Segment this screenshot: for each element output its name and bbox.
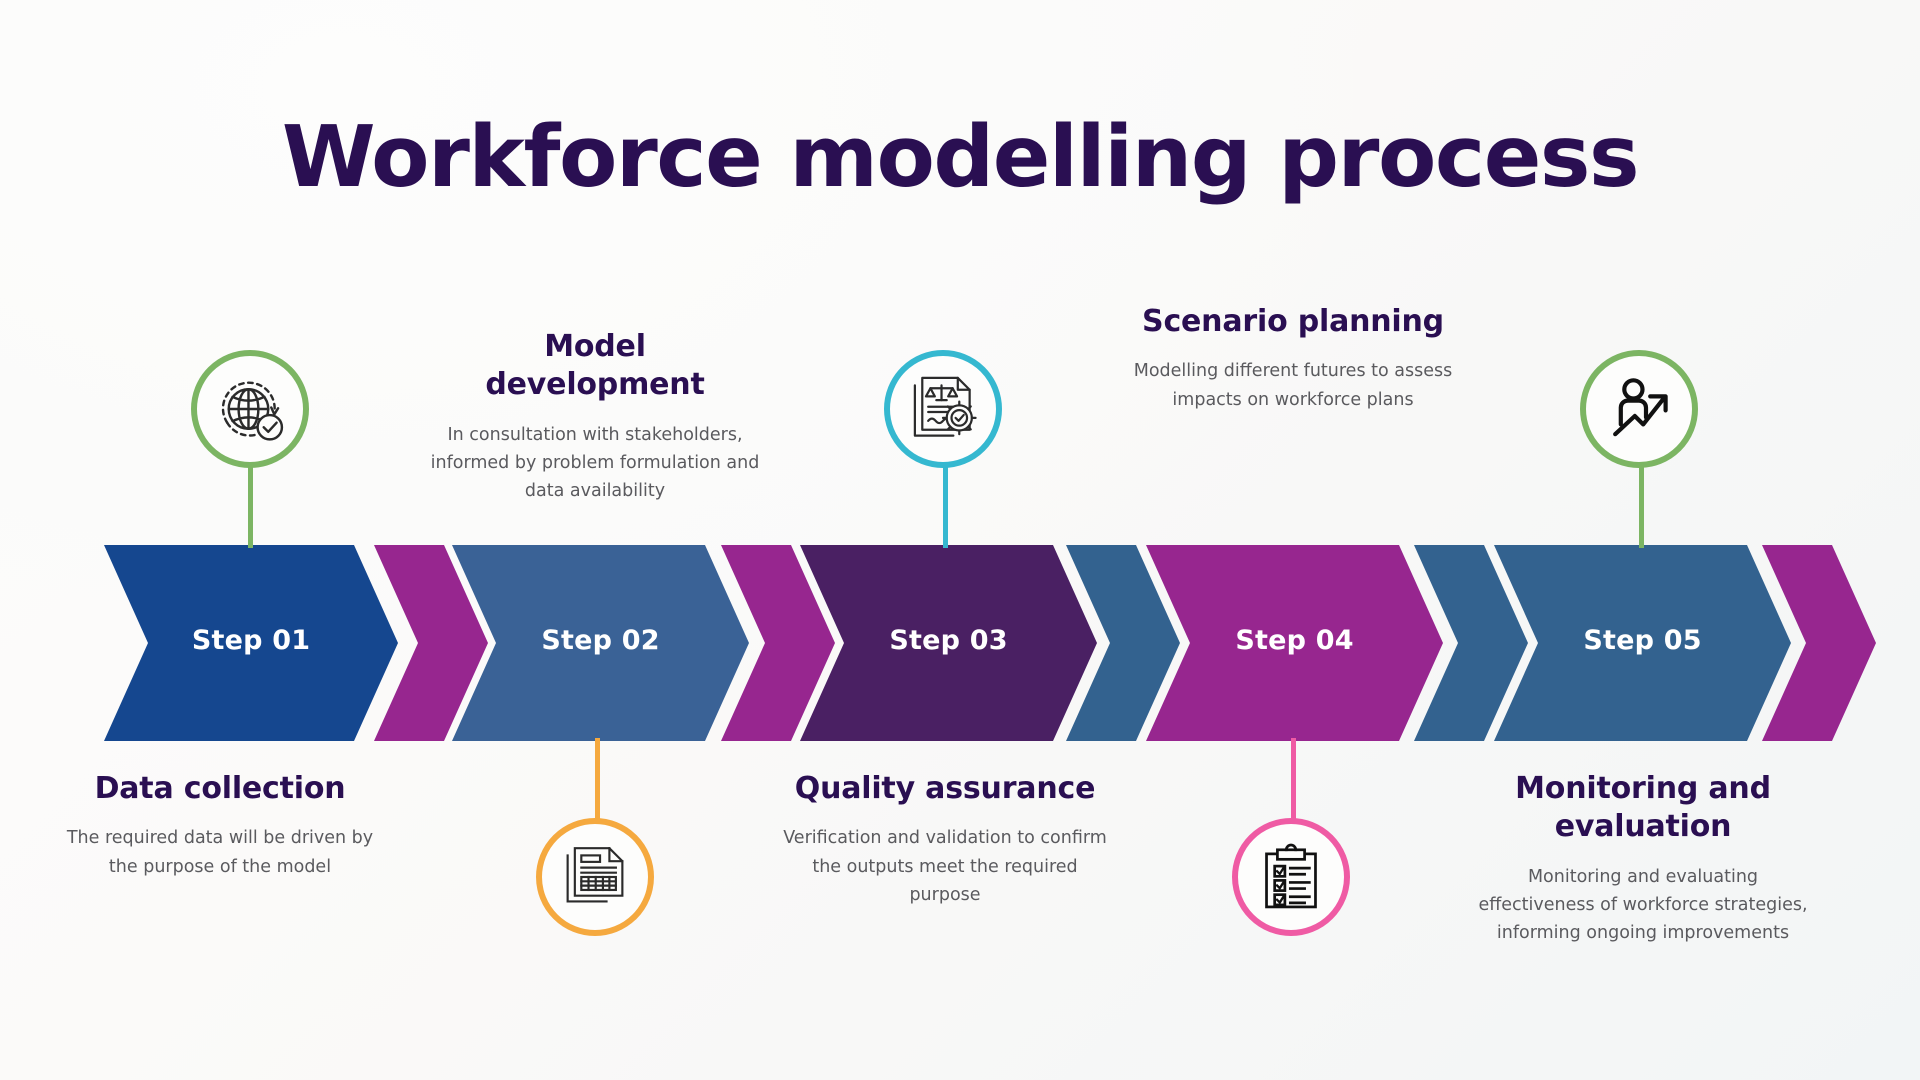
connector-line-step-02 [595,738,600,820]
icon-circle-step-01[interactable] [191,350,309,468]
icon-circle-step-02[interactable] [536,818,654,936]
text-block-step-02: Model development In consultation with s… [430,328,760,506]
spreadsheet-document-icon [559,841,631,913]
step-label-05: Step 05 [1494,625,1791,656]
text-block-step-03: Quality assurance Verification and valid… [775,770,1115,909]
body-step-03: Verification and validation to confirm t… [775,824,1115,909]
step-label-03: Step 03 [800,625,1097,656]
icon-circle-step-03[interactable] [884,350,1002,468]
body-step-02: In consultation with stakeholders, infor… [430,421,760,506]
document-scales-gear-icon [906,372,980,446]
connector-line-step-04 [1291,738,1296,820]
clipboard-checklist-icon [1257,843,1325,911]
step-label-02: Step 02 [452,625,749,656]
step-label-01: Step 01 [104,625,398,656]
person-growth-arrow-icon [1604,374,1674,444]
connector-line-step-01 [248,466,253,548]
body-step-01: The required data will be driven by the … [55,824,385,881]
body-step-05: Monitoring and evaluating effectiveness … [1473,863,1813,948]
infographic-canvas: Workforce modelling process Step 0 [0,0,1920,1080]
text-block-step-04: Scenario planning Modelling different fu… [1128,303,1458,414]
heading-step-02: Model development [430,328,760,405]
heading-step-04: Scenario planning [1128,303,1458,341]
body-step-04: Modelling different futures to assess im… [1128,357,1458,414]
globe-check-icon [212,371,288,447]
text-block-step-05: Monitoring and evaluation Monitoring and… [1473,770,1813,948]
connector-line-step-05 [1639,466,1644,548]
text-block-step-01: Data collection The required data will b… [55,770,385,881]
icon-circle-step-04[interactable] [1232,818,1350,936]
connector-line-step-03 [943,466,948,548]
step-label-04: Step 04 [1146,625,1443,656]
heading-step-05: Monitoring and evaluation [1473,770,1813,847]
heading-step-03: Quality assurance [775,770,1115,808]
heading-step-01: Data collection [55,770,385,808]
icon-circle-step-05[interactable] [1580,350,1698,468]
page-title: Workforce modelling process [0,108,1920,207]
